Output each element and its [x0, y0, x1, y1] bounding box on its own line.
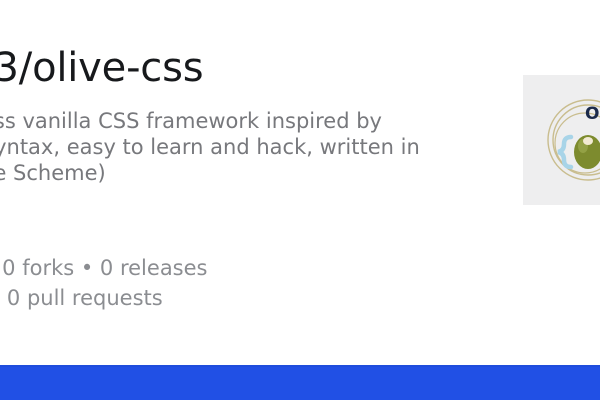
repo-logo-thumbnail: Oliv [523, 75, 600, 205]
repo-preview-card: a23/olive-css y-class vanilla CSS framew… [0, 0, 600, 400]
olive-logo-icon: Oliv [545, 97, 600, 183]
band-top-edge [0, 365, 600, 367]
stats-line-counts: ars • 0 forks • 0 releases [0, 253, 504, 283]
description-line: (Guile Scheme) [0, 160, 504, 186]
logo-wordmark: Oliv [585, 104, 600, 124]
repo-title: a23/olive-css [0, 44, 584, 92]
description-line: ind syntax, easy to learn and hack, writ… [0, 134, 504, 160]
repo-stats: ars • 0 forks • 0 releases ues • 0 pull … [0, 253, 504, 313]
card-content: a23/olive-css y-class vanilla CSS framew… [0, 0, 600, 365]
olive-logo-svg: Oliv [545, 97, 600, 183]
description-line: y-class vanilla CSS framework inspired b… [0, 108, 504, 134]
repo-description: y-class vanilla CSS framework inspired b… [0, 108, 504, 186]
stats-line-activity: ues • 0 pull requests [0, 283, 504, 313]
bottom-accent-band [0, 365, 600, 400]
